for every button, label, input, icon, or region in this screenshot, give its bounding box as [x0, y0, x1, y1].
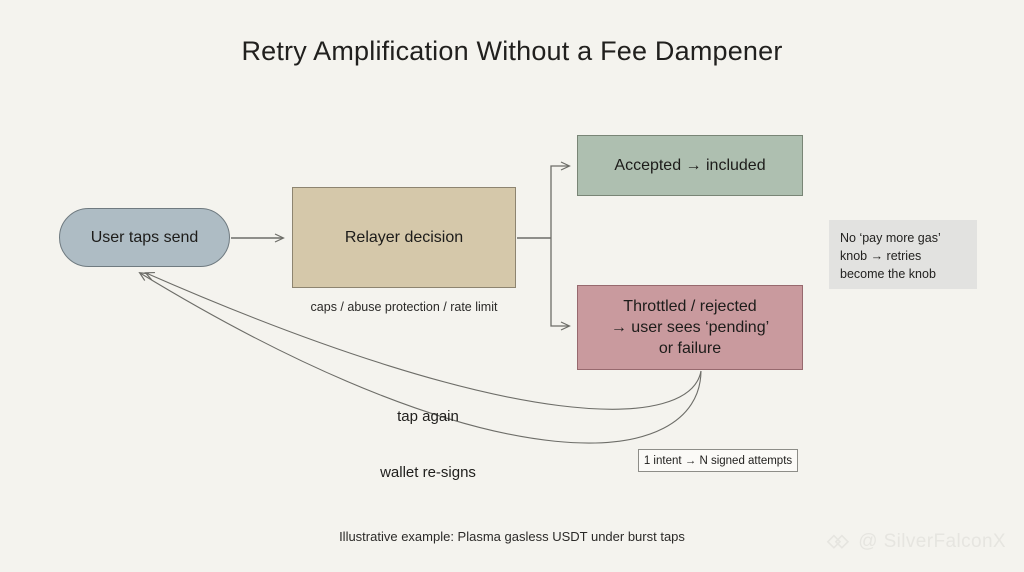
- node-relayer-decision-label: Relayer decision: [345, 227, 463, 248]
- edge-relayer-to-accepted: [551, 166, 569, 238]
- node-user-taps-send-label: User taps send: [91, 227, 199, 248]
- node-throttled-line-2: → user sees ‘pending’: [611, 317, 769, 338]
- node-accepted-label: Accepted → included: [614, 155, 765, 176]
- edge-label-wallet-re-signs: wallet re-signs: [329, 464, 527, 481]
- watermark-handle: @ SilverFalconX: [858, 531, 1006, 553]
- side-note-line-3: become the knob: [840, 265, 967, 283]
- node-relayer-decision[interactable]: Relayer decision: [292, 187, 516, 288]
- diagram-canvas: Retry Amplification Without a Fee Dampen…: [0, 0, 1024, 572]
- edge-relayer-to-throttled: [551, 238, 569, 326]
- relayer-caption: caps / abuse protection / rate limit: [292, 300, 516, 314]
- status-badge-label: 1 intent → N signed attempts: [644, 455, 792, 467]
- status-badge: 1 intent → N signed attempts: [638, 449, 798, 472]
- diamond-logo-icon: [825, 531, 851, 553]
- edge-label-tap-again: tap again: [329, 408, 527, 425]
- node-throttled-line-3: or failure: [611, 338, 769, 359]
- page-title: Retry Amplification Without a Fee Dampen…: [0, 36, 1024, 67]
- node-accepted[interactable]: Accepted → included: [577, 135, 803, 196]
- node-throttled[interactable]: Throttled / rejected → user sees ‘pendin…: [577, 285, 803, 370]
- node-throttled-line-1: Throttled / rejected: [611, 296, 769, 317]
- side-note: No ‘pay more gas’ knob → retries become …: [829, 220, 977, 289]
- side-note-line-2: knob → retries: [840, 247, 967, 265]
- side-note-line-1: No ‘pay more gas’: [840, 229, 967, 247]
- watermark: @ SilverFalconX: [825, 531, 1006, 553]
- node-user-taps-send[interactable]: User taps send: [59, 208, 230, 267]
